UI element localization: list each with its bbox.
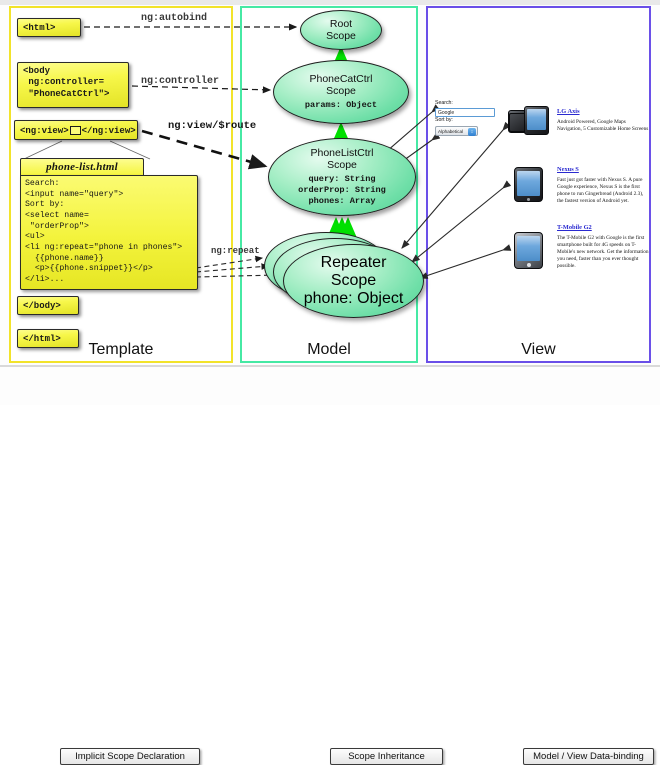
phone-image-tmobile-g2 [514,232,544,270]
callout-title: phone-list.html [20,158,144,176]
scope-phonecatctrl-title-2: Scope [326,85,356,97]
legend-item-implicit-scope-declaration: Implicit Scope Declaration [60,748,200,765]
scope-phonelistctrl-title-2: Scope [327,159,357,171]
legend-separator [0,365,660,367]
legend: Implicit Scope Declaration Scope Inherit… [0,369,660,405]
scope-phonecatctrl: PhoneCatCtrl Scope params: Object [273,60,409,124]
scope-repeater-stack: Repeater Scope phone: Object [264,232,424,318]
legend-item-data-binding: Model / View Data-binding [523,748,654,765]
wire-label-ngview-route: ng:view/$route [168,120,256,132]
legend-item-scope-inheritance: Scope Inheritance [330,748,443,765]
column-label-model: Model [242,341,416,359]
phone-title-3[interactable]: T-Mobile G2 [557,224,592,231]
tag-ngview-open: <ng:view> [20,126,69,136]
chevron-down-icon: ↕ [468,128,476,136]
scope-repeater-title-1: Repeater [321,254,387,272]
tag-html-close: </html> [17,329,79,348]
scope-repeater-props: phone: Object [304,290,404,308]
scope-root: Root Scope [300,10,382,50]
phone-snippet-1: Android Powered, Google Maps Navigation,… [557,119,649,133]
tag-body-close: </body> [17,296,79,315]
phone-image-nexus-s [514,167,544,203]
diagram-canvas: Template Model View [0,0,660,405]
phone-list-callout: phone-list.html Search: <input name="que… [20,158,198,290]
wire-label-autobind: ng:autobind [141,13,207,24]
sort-select-value: Alphabetical [438,129,463,134]
search-form: Search: Google Sort by: Alphabetical↕ [435,100,497,136]
wire-label-repeat: ng:repeat [211,246,260,256]
search-input[interactable]: Google [435,108,495,117]
scope-repeater-title-2: Scope [331,272,376,290]
sort-label: Sort by: [435,117,497,125]
scope-repeater-front: Repeater Scope phone: Object [283,244,424,318]
tag-body-open: <body ng:controller= "PhoneCatCtrl"> [17,62,129,108]
scope-phonelistctrl-title-1: PhoneListCtrl [310,147,373,159]
phone-snippet-3: The T-Mobile G2 with Google is the first… [557,235,649,270]
phone-snippet-2: Fast just got faster with Nexus S. A pur… [557,177,649,205]
column-label-view: View [428,341,649,359]
scope-root-title-1: Root [330,18,352,30]
wire-label-controller: ng:controller [141,76,219,87]
tag-ngview: <ng:view></ng:view> [14,120,138,140]
scope-phonecatctrl-props: params: Object [305,100,377,111]
phone-title-1[interactable]: LG Axis [557,108,580,115]
scope-phonecatctrl-title-1: PhoneCatCtrl [309,73,372,85]
scope-phonelistctrl-props: query: String orderProp: String phones: … [298,174,386,206]
tag-html-open: <html> [17,18,81,37]
phone-image-lg-axis [508,106,550,136]
scope-phonelistctrl: PhoneListCtrl Scope query: String orderP… [268,138,416,216]
phone-title-2[interactable]: Nexus S [557,166,579,173]
sort-select[interactable]: Alphabetical↕ [435,126,478,136]
top-margin-bar [0,0,660,5]
ngview-placeholder-icon [70,126,81,135]
search-label: Search: [435,100,497,108]
callout-code: Search: <input name="query"> Sort by: <s… [20,175,198,290]
scope-root-title-2: Scope [326,30,356,42]
tag-ngview-close: </ng:view> [82,126,136,136]
